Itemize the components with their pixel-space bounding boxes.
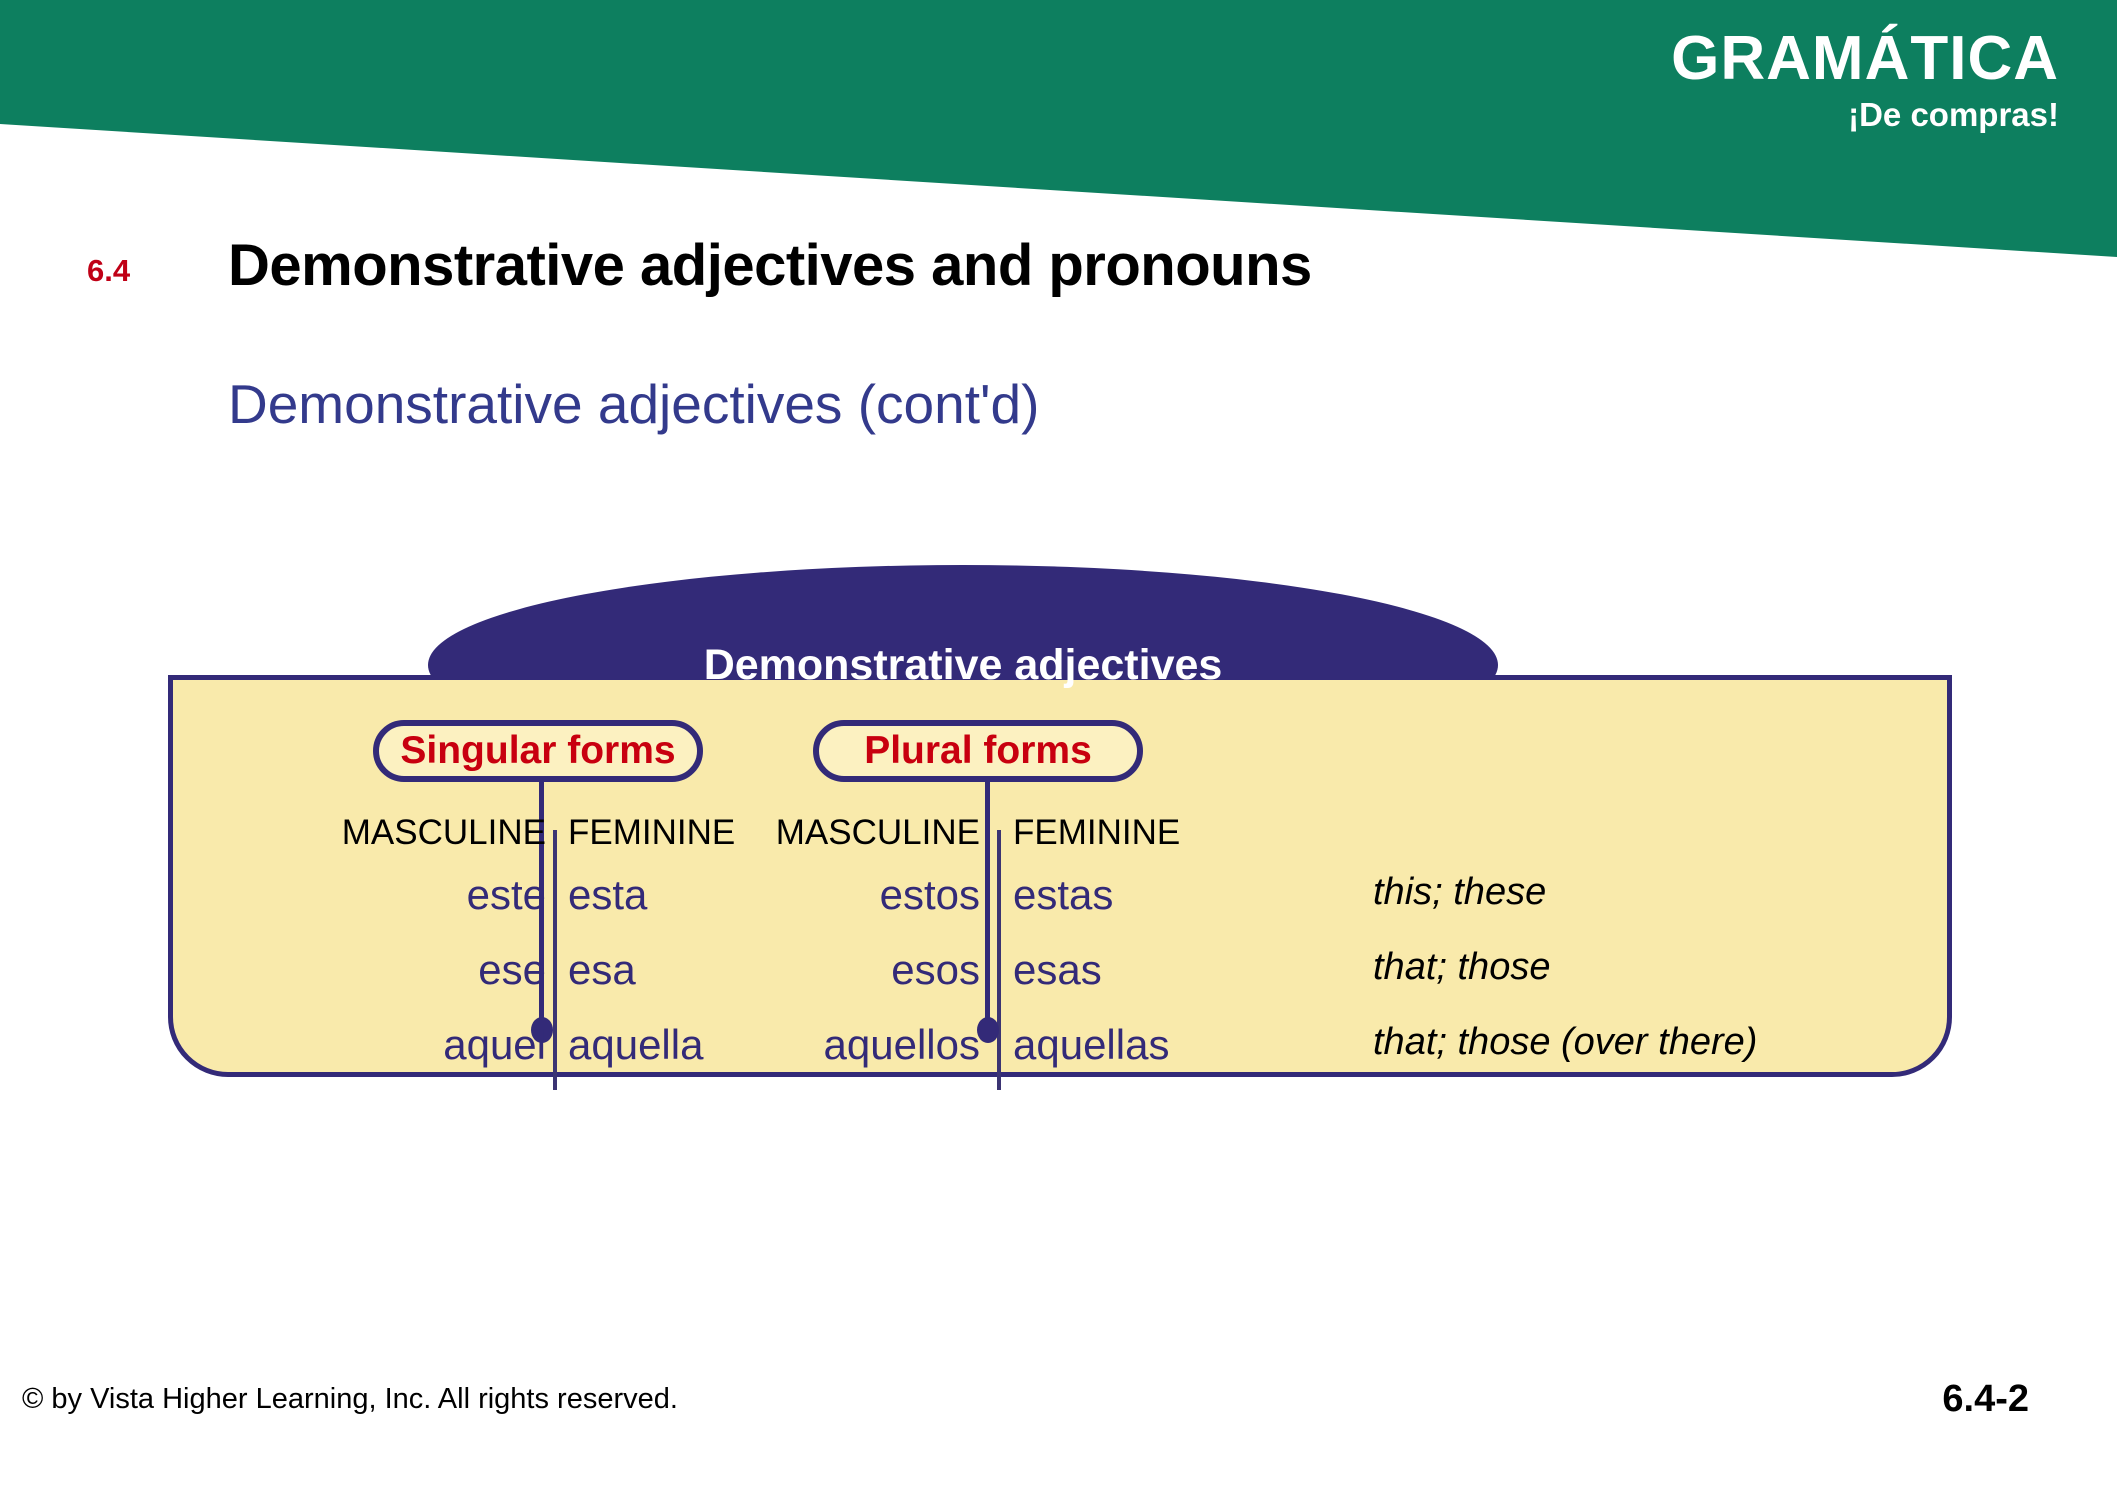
cell-plural-masculine: estos: [568, 871, 980, 919]
table-row: aquel aquella aquellos aquellas that; th…: [168, 1021, 1952, 1095]
table-row: este esta estos estas this; these: [168, 871, 1952, 945]
header-title: GRAMÁTICA: [1671, 26, 2059, 91]
cell-plural-masculine: aquellos: [568, 1021, 980, 1069]
column-header-plural-feminine: FEMININE: [1013, 813, 1313, 853]
table-header-row: MASCULINE FEMININE MASCULINE FEMININE: [168, 813, 1952, 869]
group-pill-plural: Plural forms: [813, 720, 1143, 782]
page-title: Demonstrative adjectives and pronouns: [228, 232, 1312, 299]
cell-plural-masculine: esos: [568, 946, 980, 994]
demonstrative-adjectives-diagram: Demonstrative adjectives Singular forms …: [168, 565, 1958, 1185]
column-header-singular-masculine: MASCULINE: [178, 813, 546, 853]
table-row: ese esa esos esas that; those: [168, 946, 1952, 1020]
cell-singular-masculine: este: [178, 871, 546, 919]
cell-plural-feminine: aquellas: [1013, 1021, 1313, 1069]
cell-singular-masculine: aquel: [178, 1021, 546, 1069]
cell-plural-feminine: esas: [1013, 946, 1313, 994]
column-header-plural-masculine: MASCULINE: [568, 813, 980, 853]
header-subtitle: ¡De compras!: [1848, 96, 2059, 134]
cell-translation: this; these: [1373, 871, 1933, 914]
footer-page-number: 6.4-2: [1942, 1378, 2029, 1421]
section-number: 6.4: [87, 253, 130, 289]
cell-singular-masculine: ese: [178, 946, 546, 994]
cell-translation: that; those (over there): [1373, 1021, 1933, 1064]
cell-plural-feminine: estas: [1013, 871, 1313, 919]
footer-copyright: © by Vista Higher Learning, Inc. All rig…: [22, 1383, 678, 1416]
page-subtitle: Demonstrative adjectives (cont'd): [228, 372, 1039, 436]
cell-translation: that; those: [1373, 946, 1933, 989]
group-pill-singular: Singular forms: [373, 720, 703, 782]
